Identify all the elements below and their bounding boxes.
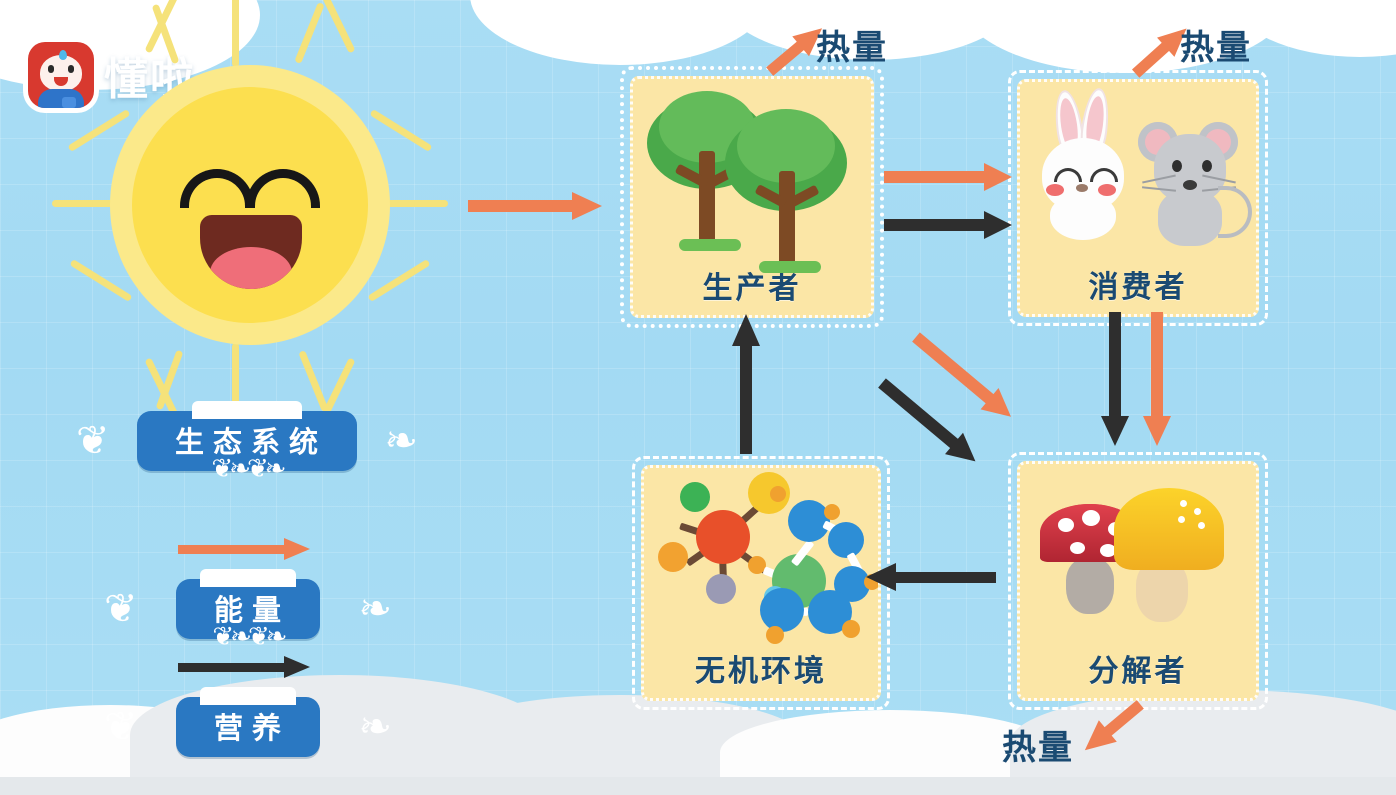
- molecule-icon: [644, 468, 878, 646]
- sun-eye-right: [246, 169, 320, 208]
- node-decomposer[interactable]: 分解者: [1008, 452, 1268, 710]
- mascot-drop-icon: [59, 50, 67, 60]
- banner-swirl-left-energy-icon: ❦: [104, 589, 138, 629]
- legend-nutrient-arrow-icon: [178, 661, 310, 674]
- banner-top-tab-nutrient: [200, 687, 296, 705]
- legend-energy-banner: ❦ 能量 ❧ ❦❧❦❧: [146, 583, 350, 635]
- banner-swirl-left-icon: ❦: [76, 421, 110, 461]
- node-environment-label: 无机环境: [695, 646, 827, 698]
- banner-bottom-flourish-energy-icon: ❦❧❦❧: [212, 621, 283, 652]
- flow-producer-to-consumer-nutrient: [884, 214, 1016, 236]
- node-consumer[interactable]: 消费者: [1008, 70, 1268, 326]
- node-consumer-inner: 消费者: [1017, 79, 1259, 317]
- banner-bottom-flourish-icon: ❦❧❦❧: [211, 453, 282, 484]
- node-producer-inner: 生产者: [630, 76, 874, 318]
- sun-mouth: [200, 215, 302, 289]
- flow-consumer-to-decomposer-nutrient: [1104, 312, 1128, 448]
- flow-sun-to-producer-energy: [468, 196, 600, 216]
- heat-label-decomposer: 热量: [1002, 720, 1074, 769]
- node-consumer-label: 消费者: [1089, 262, 1188, 314]
- two-mushrooms-icon: [1020, 464, 1256, 646]
- mascot-mouth: [54, 77, 68, 86]
- banner-swirl-left-nutrient-icon: ❦: [104, 707, 138, 747]
- node-decomposer-label: 分解者: [1089, 646, 1188, 698]
- banner-swirl-right-nutrient-icon: ❧: [358, 707, 392, 747]
- heat-label-producer: 热量: [816, 20, 888, 69]
- banner-top-tab-energy: [200, 569, 296, 587]
- flow-consumer-to-decomposer-energy: [1146, 312, 1170, 448]
- sun-tongue: [210, 247, 292, 289]
- mascot-eye-right: [68, 65, 74, 73]
- flow-environment-to-producer-nutrient: [734, 314, 760, 456]
- sun-eye-left: [180, 169, 254, 208]
- legend-energy-arrow-icon: [178, 543, 310, 556]
- mascot-badge: [62, 97, 76, 108]
- sun-face: [132, 87, 368, 323]
- node-producer[interactable]: 生产者: [620, 66, 884, 328]
- two-trees-icon: [633, 79, 871, 263]
- cloud-top-5: [1230, 0, 1396, 57]
- ecosystem-diagram-canvas: 懂啦 ❦ 生态系统 ❧ ❦❧❦❧: [0, 0, 1396, 795]
- banner-top-tab: [192, 401, 302, 419]
- banner-swirl-right-energy-icon: ❧: [358, 589, 392, 629]
- ground-strip: [0, 777, 1396, 795]
- node-decomposer-inner: 分解者: [1017, 461, 1259, 701]
- legend-title-banner: ❦ 生态系统 ❧ ❦❧❦❧: [118, 415, 376, 467]
- flow-producer-to-consumer-energy: [884, 166, 1016, 188]
- banner-swirl-right-icon: ❧: [384, 421, 418, 461]
- legend-nutrient-label: 营养: [176, 697, 320, 757]
- node-environment[interactable]: 无机环境: [632, 456, 890, 710]
- smiling-sun-icon: [110, 65, 390, 345]
- mascot-icon: [28, 42, 94, 108]
- flow-decomposer-to-environment-nutrient: [866, 566, 1000, 590]
- node-environment-inner: 无机环境: [641, 465, 881, 701]
- legend-nutrient-banner: ❦ 营养 ❧: [146, 701, 350, 753]
- mascot-body: [38, 89, 84, 108]
- rabbit-and-mouse-icon: [1020, 82, 1256, 262]
- heat-label-consumer: 热量: [1180, 20, 1252, 69]
- mascot-eye-left: [48, 65, 54, 73]
- mascot-face: [40, 55, 82, 91]
